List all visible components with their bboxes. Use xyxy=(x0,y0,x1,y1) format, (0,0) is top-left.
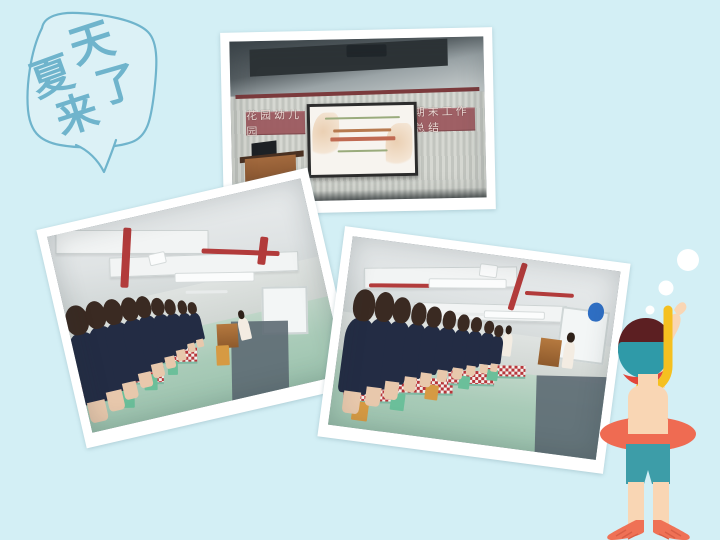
banner-left: 花园幼儿园 xyxy=(246,111,305,135)
photo-collage-canvas: 天 夏 了 来 花园幼儿园 期末工作总结 xyxy=(0,0,720,540)
bubble-small xyxy=(646,306,655,315)
projector-icon xyxy=(346,45,387,57)
slide-line-4 xyxy=(338,149,388,152)
swimmer-svg xyxy=(596,238,720,540)
right-leg xyxy=(653,482,669,526)
projection-screen xyxy=(307,102,419,178)
slide-line-1 xyxy=(325,116,400,120)
swim-shorts xyxy=(626,444,670,484)
snorkeling-kid-illustration xyxy=(596,238,720,540)
classroom-scene-right xyxy=(328,236,620,460)
left-leg xyxy=(628,482,644,526)
photo-image-area xyxy=(47,178,346,432)
classroom-scene-left xyxy=(47,178,346,432)
stool-front xyxy=(216,345,230,366)
summer-speech-bubble: 天 夏 了 来 xyxy=(12,6,172,176)
ceiling-light-1 xyxy=(478,263,498,279)
slide-line-2 xyxy=(333,129,391,133)
teachers-standing-right-photo[interactable] xyxy=(317,226,630,474)
torso-over-ring xyxy=(628,414,668,434)
bubble-tail xyxy=(76,140,116,172)
ceiling-light-2 xyxy=(429,278,507,288)
banner-right: 期末工作总结 xyxy=(414,107,475,131)
ceiling-duct-1 xyxy=(56,230,209,254)
bubble-medium xyxy=(659,281,674,296)
bubble-large xyxy=(677,249,699,271)
photo-image-area xyxy=(328,236,620,460)
teachers-standing-left-photo[interactable] xyxy=(36,168,357,449)
lectern xyxy=(538,338,563,367)
ceiling-light-2 xyxy=(175,272,255,283)
